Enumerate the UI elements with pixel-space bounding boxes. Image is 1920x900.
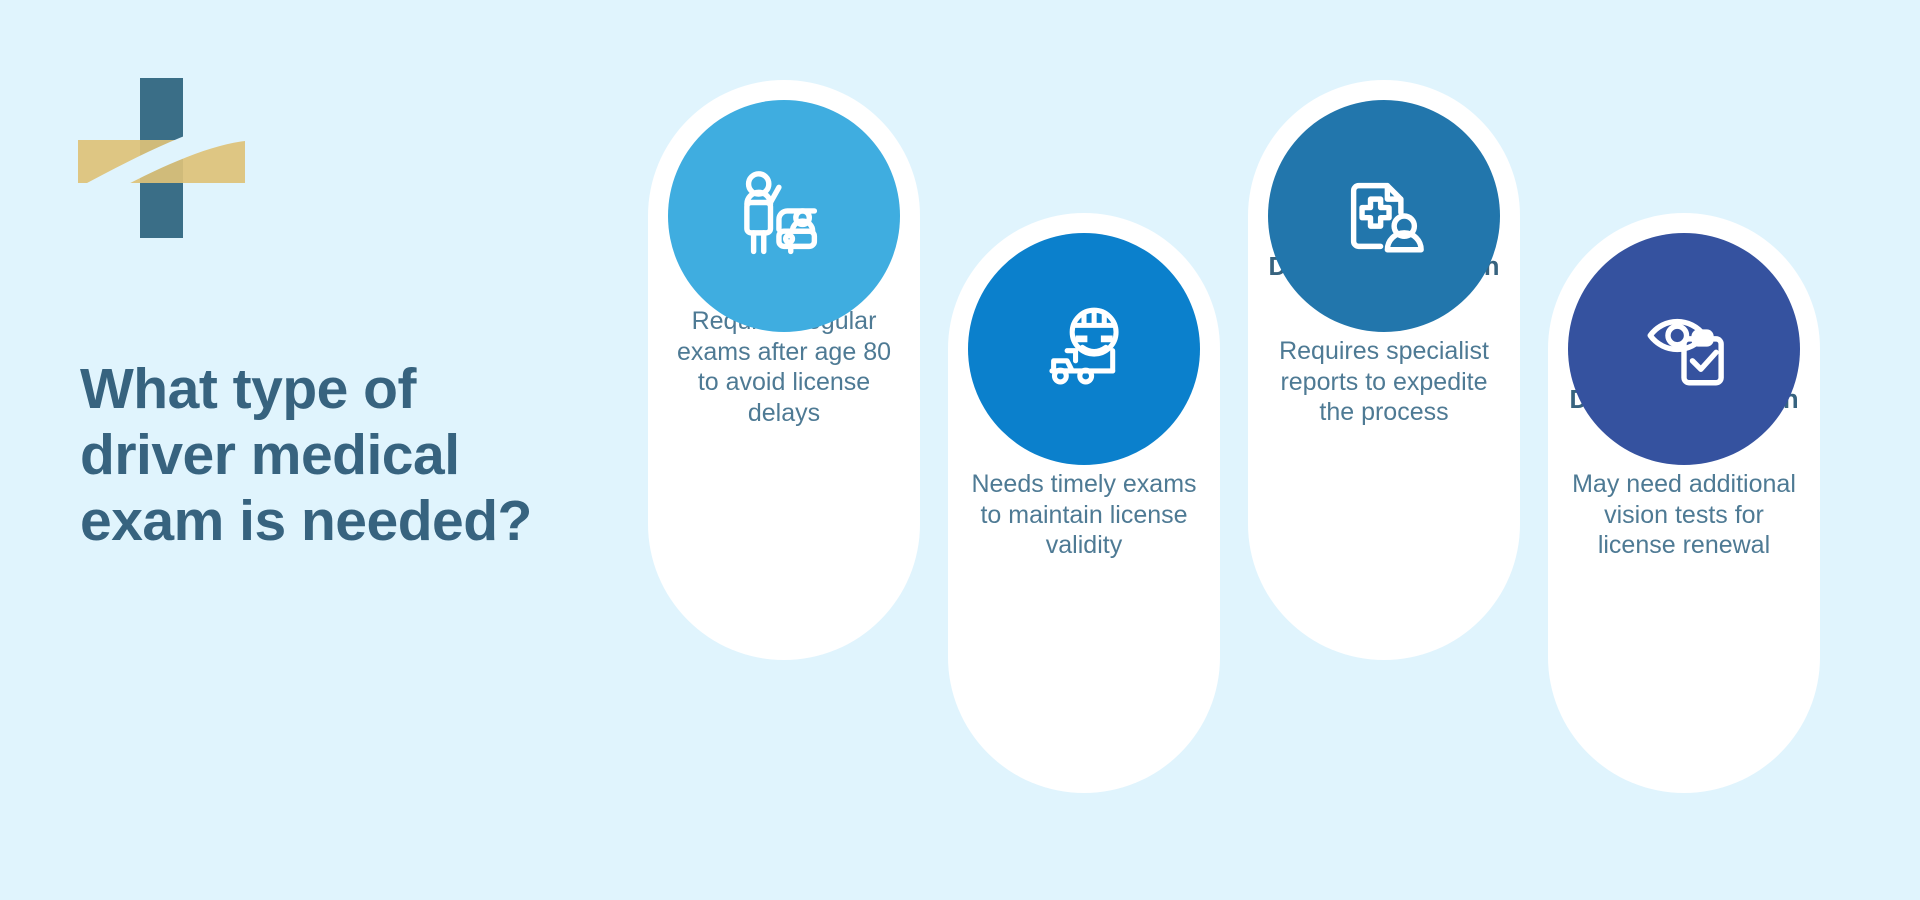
- medical-cross-swoosh-logo: [78, 78, 260, 238]
- card-description-vision-concerns: May need additional vision tests for lic…: [1560, 469, 1808, 561]
- card-icon-circle-health-conditions: [1268, 100, 1500, 332]
- card-description-health-conditions: Requires specialist reports to expedite …: [1260, 336, 1508, 428]
- card-commercial-drivers[interactable]: Commercial Drivers Needs timely exams to…: [948, 213, 1220, 793]
- card-icon-circle-commercial-drivers: [968, 233, 1200, 465]
- person-waving-at-car-icon: [730, 162, 838, 270]
- card-senior-drivers[interactable]: Senior Drivers Requires regular exams af…: [648, 80, 920, 660]
- medical-record-person-icon: [1330, 162, 1438, 270]
- card-list: Senior Drivers Requires regular exams af…: [640, 0, 1920, 900]
- page-title: What type of driver medical exam is need…: [80, 356, 620, 554]
- card-icon-circle-senior-drivers: [668, 100, 900, 332]
- eye-clipboard-check-icon: [1630, 295, 1738, 403]
- card-drivers-with-vision-concerns[interactable]: Drivers with Vision Concerns May need ad…: [1548, 213, 1820, 793]
- card-icon-circle-vision-concerns: [1568, 233, 1800, 465]
- page-title-line-2: driver medical: [80, 422, 620, 488]
- truck-driver-icon: [1030, 295, 1138, 403]
- card-drivers-with-health-conditions[interactable]: Drivers with Health Conditions Requires …: [1248, 80, 1520, 660]
- page-title-line-3: exam is needed?: [80, 488, 620, 554]
- page-title-line-1: What type of: [80, 356, 620, 422]
- infographic-page: What type of driver medical exam is need…: [0, 0, 1920, 900]
- card-description-commercial-drivers: Needs timely exams to maintain license v…: [960, 469, 1208, 561]
